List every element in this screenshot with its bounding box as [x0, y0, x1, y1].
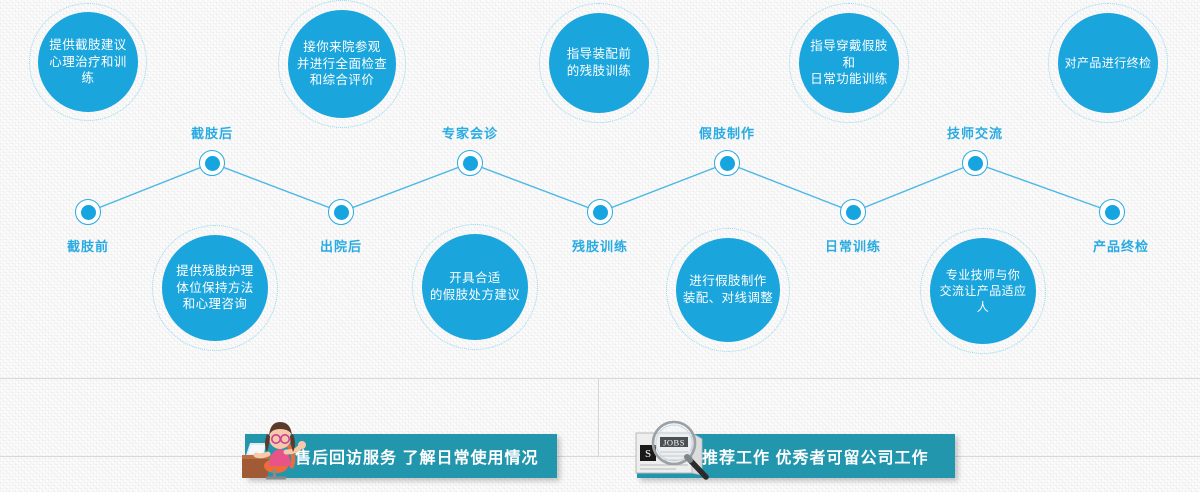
timeline-node-4[interactable] — [457, 150, 483, 176]
timeline-node-6[interactable] — [714, 150, 740, 176]
node-dot — [846, 205, 861, 220]
timeline-node-7[interactable] — [840, 199, 866, 225]
timeline-node-3[interactable] — [328, 199, 354, 225]
bubble-top-3: 指导装配前 的残肢训练 — [549, 13, 649, 113]
timeline-node-label-5: 残肢训练 — [572, 236, 628, 255]
woman-at-desk-illustration — [236, 414, 308, 482]
bubble-top-2: 接你来院参观 并进行全面检查 和综合评价 — [288, 10, 396, 118]
node-dot — [1105, 205, 1120, 220]
bubble-top-1: 提供截肢建议 心理治疗和训练 — [38, 12, 138, 112]
timeline-node-9[interactable] — [1099, 199, 1125, 225]
section-divider-top — [0, 378, 1200, 379]
node-dot — [593, 205, 608, 220]
svg-text:S: S — [645, 448, 651, 460]
timeline-node-label-2: 截肢后 — [191, 123, 233, 142]
banner-after-sales-label: 售后回访服务 了解日常使用情况 — [295, 444, 538, 468]
jobs-magnifier-illustration: S JOBS — [630, 415, 720, 483]
node-dot — [720, 156, 735, 171]
node-dot — [205, 156, 220, 171]
bubble-top-4: 指导穿戴假肢和 日常功能训练 — [799, 13, 899, 113]
timeline-node-label-6: 假肢制作 — [699, 123, 755, 142]
timeline-node-label-3: 出院后 — [320, 236, 362, 255]
timeline-node-1[interactable] — [75, 199, 101, 225]
bubble-bottom-3: 进行假肢制作 装配、对线调整 — [676, 238, 780, 342]
node-dot — [81, 205, 96, 220]
node-dot — [334, 205, 349, 220]
banner-job-placement-label: 推荐工作 优秀者可留公司工作 — [702, 444, 928, 468]
timeline-node-8[interactable] — [962, 150, 988, 176]
section-divider-vertical — [598, 378, 599, 456]
timeline-node-label-8: 技师交流 — [947, 123, 1003, 142]
timeline-node-label-4: 专家会诊 — [442, 123, 498, 142]
node-dot — [463, 156, 478, 171]
timeline-node-label-1: 截肢前 — [67, 236, 109, 255]
bubble-bottom-4: 专业技师与你 交流让产品适应人 — [930, 238, 1036, 344]
node-dot — [968, 156, 983, 171]
bubble-top-5: 对产品进行终检 — [1058, 13, 1158, 113]
bubble-bottom-1: 提供残肢护理 体位保持方法 和心理咨询 — [162, 235, 268, 341]
timeline-node-2[interactable] — [199, 150, 225, 176]
bubble-bottom-2: 开具合适 的假肢处方建议 — [422, 234, 528, 340]
timeline-node-5[interactable] — [587, 199, 613, 225]
infographic-canvas: 提供截肢建议 心理治疗和训练 接你来院参观 并进行全面检查 和综合评价 指导装配… — [0, 0, 1200, 492]
timeline-node-label-7: 日常训练 — [825, 236, 881, 255]
timeline-node-label-9: 产品终检 — [1093, 236, 1149, 255]
section-divider-bottom — [0, 456, 1200, 457]
